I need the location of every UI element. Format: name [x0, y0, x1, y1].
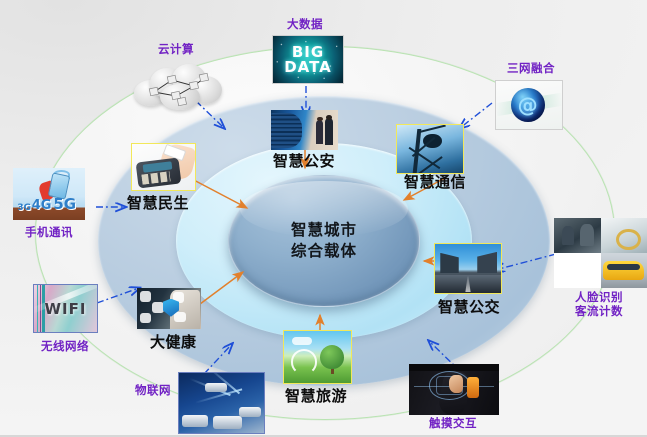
domain-label-gongjiao: 智慧公交	[438, 299, 500, 317]
tech-label-sanwangronghe: 三网融合	[493, 62, 569, 76]
bus-passenger-icon	[554, 218, 647, 288]
wifi-text: WIFI	[34, 285, 97, 332]
tech-label-renlianshibie: 人脸识别 客流计数	[552, 291, 646, 318]
server-room-icon	[271, 110, 338, 150]
domain-label-tongxin: 智慧通信	[404, 174, 466, 192]
pos-terminal-icon	[131, 143, 196, 191]
health-shield-icon	[137, 288, 201, 329]
bridge-road-icon	[434, 243, 502, 294]
diagram-canvas: 智慧城市 综合载体	[0, 0, 647, 437]
tech-label-wulianwang: 物联网	[128, 384, 178, 398]
tech-label-wuxianwangluo: 无线网络	[31, 340, 99, 354]
big-data-icon: BIG DATA	[272, 35, 344, 84]
gen-5g-text: 5G	[53, 195, 76, 213]
domain-label-dajiankang: 大健康	[150, 334, 197, 352]
touch-interaction-icon	[409, 364, 499, 415]
center-label-line1: 智慧城市	[291, 220, 357, 241]
tech-label-chumojiaohu: 触摸交互	[407, 417, 499, 431]
at-glyph: @	[511, 88, 545, 123]
center-label-line2: 综合载体	[291, 241, 357, 262]
domain-label-lvyou: 智慧旅游	[285, 388, 347, 406]
telecom-tower-icon	[396, 124, 464, 174]
tech-label-dashuju: 大数据	[273, 18, 337, 32]
mobile-5g-icon: 3G 4G 5G	[13, 168, 85, 220]
tech-label-yunjisuan: 云计算	[144, 43, 208, 57]
domain-label-gongan: 智慧公安	[273, 153, 335, 171]
center-label: 智慧城市 综合载体	[228, 175, 420, 307]
domain-label-minsheng: 智慧民生	[127, 195, 189, 213]
iot-vehicles-icon	[178, 372, 265, 434]
big-data-text-line2: DATA	[284, 60, 332, 75]
grass-tree-icon	[283, 330, 352, 384]
gen-4g-text: 4G	[32, 198, 52, 213]
wifi-icon: WIFI	[33, 284, 98, 333]
gen-3g-text: 3G	[17, 203, 31, 213]
at-globe-icon: @	[495, 80, 563, 130]
tech-label-shoujitongxun: 手机通讯	[13, 226, 85, 240]
cloud-network-icon	[132, 62, 224, 112]
